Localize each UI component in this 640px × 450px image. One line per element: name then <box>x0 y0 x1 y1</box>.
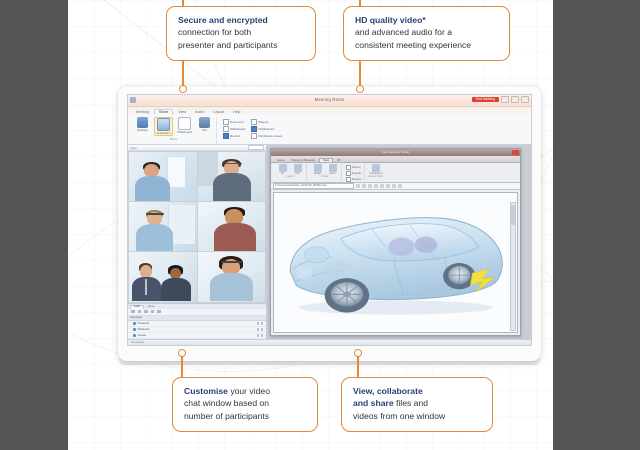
shared-tab-home[interactable]: Home <box>274 159 287 162</box>
shared-app-titlebar: Car Assembly Model <box>271 149 520 156</box>
zoom-label: Zoom <box>329 173 335 176</box>
video-tile[interactable] <box>129 152 197 201</box>
callout-heading: View, collaborate <box>353 385 483 397</box>
share-desktop-button[interactable]: Desktop <box>134 117 151 132</box>
torso <box>214 223 256 251</box>
callout-line-2: connection for both <box>178 26 306 38</box>
video-tile[interactable] <box>198 152 266 201</box>
cad-canvas[interactable] <box>273 192 518 333</box>
application-icon <box>157 118 170 131</box>
connector-dot-customise <box>178 349 186 357</box>
callout-line-2: and share files and <box>353 397 483 409</box>
shared-tab-view[interactable]: View <box>319 158 333 162</box>
ribbon-tab-view[interactable]: View <box>174 110 190 115</box>
connector-dot-hd <box>356 85 364 93</box>
zoom-button[interactable]: Zoom <box>326 164 339 175</box>
ribbon-tab-meeting[interactable]: Meeting <box>132 110 153 115</box>
option-players[interactable]: Players <box>251 119 282 125</box>
participant-name: Guests <box>138 334 147 337</box>
video-tile-grid <box>128 151 266 303</box>
shared-group-rotate: Rotate Zoom Rotate <box>309 164 342 181</box>
invite-icon[interactable] <box>144 310 148 314</box>
zoom-icon <box>329 164 337 172</box>
shared-group-name: Layout <box>286 175 293 178</box>
checkbox-icon <box>251 133 257 139</box>
end-meeting-button[interactable]: End Meeting <box>472 97 499 102</box>
checkbox-icon <box>251 119 257 125</box>
minimise-button[interactable] <box>501 96 509 103</box>
option-record[interactable]: Record <box>223 133 245 139</box>
ribbon-tab-share[interactable]: Share <box>154 109 174 115</box>
row-icons <box>257 322 264 325</box>
option-document[interactable]: Document <box>223 119 245 125</box>
ribbon-options: Document Whiteboard Record <box>223 117 282 139</box>
option-notifications-label: Notifications <box>258 127 274 131</box>
pan-button[interactable]: Pan <box>291 164 304 175</box>
shared-content-panel: Car Assembly Model Home Display & Measur… <box>267 145 531 339</box>
fit-icon <box>279 164 287 172</box>
maximise-button[interactable] <box>511 96 519 103</box>
callout-heading: HD quality video* <box>355 14 500 26</box>
checkbox-icon <box>223 126 229 132</box>
video-tile[interactable] <box>198 202 266 251</box>
callout-secure-encrypted: Secure and encrypted connection for both… <box>166 6 316 61</box>
shared-group-render-mode: Transparent Render Mode <box>367 164 386 181</box>
option-section-label: Section <box>352 166 360 169</box>
option-record-label: Record <box>230 134 240 138</box>
video-tile[interactable] <box>129 252 197 301</box>
titlebar-controls: End Meeting <box>472 96 529 103</box>
connector-line-secure <box>182 61 184 87</box>
ribbon-group-buttons: Desktop Application Whiteboard <box>134 117 213 136</box>
shared-app-title: Car Assembly Model <box>382 150 410 154</box>
torso <box>135 176 170 201</box>
headset-icon <box>146 213 164 215</box>
option-explode-label: Explode <box>352 172 361 175</box>
option-whiteboard[interactable]: Whiteboard <box>223 126 245 132</box>
option-section[interactable]: Section <box>346 165 362 170</box>
ribbon-options-col-1: Document Whiteboard Record <box>223 119 245 139</box>
app-logo-icon <box>130 97 136 103</box>
checkbox-checked-icon <box>251 126 257 132</box>
shared-app-path-bar: C:\Users\model\vehicle_shell\CAR_MODEL.d… <box>271 183 520 190</box>
left-margin-band <box>0 0 68 450</box>
hand-raise-icon[interactable] <box>151 310 155 314</box>
share-file-button[interactable]: File <box>196 117 213 132</box>
share-application-label: Application <box>156 132 170 135</box>
canvas-scrollbar[interactable] <box>510 202 516 331</box>
option-measure-label: Measure <box>352 178 362 181</box>
presence-icon <box>133 334 136 337</box>
cam-icon <box>261 334 264 337</box>
option-players-label: Players <box>258 120 268 124</box>
participant-figure <box>133 162 172 201</box>
rotate-button[interactable]: Rotate <box>311 164 324 175</box>
app-titlebar: Meeting Room End Meeting <box>128 95 531 107</box>
rotate-icon <box>314 164 322 172</box>
callout-line-2: and advanced audio for a <box>355 26 500 38</box>
camera-icon[interactable] <box>138 310 142 314</box>
checkbox-icon <box>346 165 351 170</box>
mic-icon <box>257 328 260 331</box>
rotate-right-icon[interactable] <box>386 184 390 188</box>
callout-customise-video-chat: Customise your video chat window based o… <box>172 377 318 432</box>
shared-group-layout: Fit Pan Layout <box>274 164 307 181</box>
head <box>225 209 242 224</box>
device-bezel: Meeting Room End Meeting Meeting Share V… <box>118 86 541 361</box>
share-application-button[interactable]: Application <box>154 117 173 136</box>
participant-figure <box>214 207 257 251</box>
ribbon-tab-help[interactable]: Help <box>229 110 244 115</box>
file-icon <box>199 117 210 128</box>
participant-name: Moderator <box>138 328 150 331</box>
torso <box>213 173 251 201</box>
file-path-field[interactable]: C:\Users\model\vehicle_shell\CAR_MODEL.d… <box>273 183 354 189</box>
shared-tab-3d[interactable]: 3D <box>334 159 344 162</box>
ribbon-tab-layout[interactable]: Layout <box>209 110 228 115</box>
device-screen: Meeting Room End Meeting Meeting Share V… <box>127 94 532 346</box>
fit-label: Fit <box>281 173 284 176</box>
ribbon-tab-audio[interactable]: Audio <box>191 110 208 115</box>
torso <box>136 224 174 251</box>
app-ribbon: Meeting Share View Audio Layout Help <box>128 107 531 145</box>
back-icon[interactable] <box>356 184 360 188</box>
tab-chat[interactable]: Chat <box>130 305 144 309</box>
participant-panel: Chat Notes Attendees <box>128 303 266 340</box>
row-icons <box>257 328 264 331</box>
checkbox-icon <box>346 171 351 176</box>
checkbox-checked-icon <box>223 133 229 139</box>
mic-icon <box>257 334 260 337</box>
option-explode[interactable]: Explode <box>346 171 362 176</box>
shared-app-tab-strip: Home Display & Measure View 3D <box>271 156 520 163</box>
callout-line-3: number of participants <box>184 410 308 422</box>
ribbon-options-col-2: Players Notifications Participant screen <box>251 119 282 139</box>
ribbon-group-options: Document Whiteboard Record <box>220 117 285 144</box>
callout-line-3: presenter and participants <box>178 39 306 51</box>
presence-icon <box>133 328 136 331</box>
ribbon-group-name: Share <box>170 137 177 141</box>
callout-line-2: chat window based on <box>184 397 308 409</box>
shared-tab-display-measure[interactable]: Display & Measure <box>288 159 317 162</box>
participant-toolbar <box>128 309 266 316</box>
necktie-icon <box>145 279 148 294</box>
presence-icon <box>133 322 136 325</box>
shared-app-close-button[interactable] <box>512 150 519 155</box>
transparent-button[interactable]: Transparent <box>369 164 382 175</box>
whiteboard-icon <box>178 117 191 130</box>
participant-name: Presenter <box>138 322 150 325</box>
headset-icon <box>221 261 241 263</box>
ribbon-tab-strip: Meeting Share View Audio Layout Help <box>128 107 531 115</box>
zoom-in-icon[interactable] <box>368 184 372 188</box>
ribbon-body: Desktop Application Whiteboard <box>128 115 531 144</box>
option-whiteboard-label: Whiteboard <box>230 127 245 131</box>
connector-dot-secure <box>179 85 187 93</box>
mute-icon[interactable] <box>131 310 135 314</box>
cam-icon <box>261 322 264 325</box>
right-margin-band <box>553 0 640 450</box>
callout-heading: Secure and encrypted <box>178 14 306 26</box>
option-participant-screen-label: Participant screen <box>258 134 282 138</box>
app-window-title: Meeting Room <box>315 97 345 102</box>
participant-figure <box>212 159 253 201</box>
option-notifications[interactable]: Notifications <box>251 126 282 132</box>
shared-group-buttons: Rotate Zoom <box>311 164 339 175</box>
page-canvas: Meeting Room End Meeting Meeting Share V… <box>0 0 640 450</box>
participant-figure <box>161 265 191 301</box>
pan-icon <box>294 164 302 172</box>
transparent-icon <box>372 164 380 172</box>
print-icon[interactable] <box>398 184 402 188</box>
share-whiteboard-button[interactable]: Whiteboard <box>176 117 193 134</box>
app-statusbar: Connected <box>128 339 531 345</box>
scrollbar-thumb[interactable] <box>511 205 515 225</box>
share-file-label: File <box>202 129 207 132</box>
share-whiteboard-label: Whiteboard <box>177 131 192 134</box>
connector-line-hd <box>359 61 361 87</box>
connector-dot-view-share <box>354 349 362 357</box>
connector-line-view-share <box>357 356 359 379</box>
video-panel: Video <box>128 145 267 339</box>
video-tile[interactable] <box>129 202 197 251</box>
shared-group-buttons: Transparent <box>369 164 382 175</box>
participant-figure <box>210 256 255 301</box>
option-participant-screen[interactable]: Participant screen <box>251 133 282 139</box>
meeting-app-window: Meeting Room End Meeting Meeting Share V… <box>128 95 531 345</box>
participant-figure <box>136 210 175 251</box>
callout-view-collaborate-share: View, collaborate and share files and vi… <box>341 377 493 432</box>
callout-line-2-rest: files and <box>394 398 428 408</box>
torso <box>210 273 254 301</box>
share-desktop-label: Desktop <box>137 129 148 132</box>
shared-group-name: Rotate <box>321 175 328 178</box>
forward-icon[interactable] <box>362 184 366 188</box>
shared-group-name: Render Mode <box>369 175 384 178</box>
rotate-label: Rotate <box>314 173 321 176</box>
connector-line-customise <box>181 356 183 379</box>
close-button[interactable] <box>521 96 529 103</box>
front-wheel <box>325 278 370 312</box>
ribbon-group-share: Desktop Application Whiteboard <box>131 117 217 144</box>
video-panel-title: Video <box>130 146 137 150</box>
rotate-left-icon[interactable] <box>380 184 384 188</box>
tab-notes[interactable]: Notes <box>145 306 158 309</box>
callout-heading: Customise your video <box>184 385 308 397</box>
callout-line-3: consistent meeting experience <box>355 39 500 51</box>
shared-application-window: Car Assembly Model Home Display & Measur… <box>270 148 521 336</box>
row-icons <box>257 334 264 337</box>
cam-icon <box>261 328 264 331</box>
app-content: Video <box>128 145 531 339</box>
shared-group-buttons: Fit Pan <box>276 164 304 175</box>
shared-group-options: Section Explode Measure <box>346 164 362 182</box>
checkbox-icon <box>223 119 229 125</box>
video-tile[interactable] <box>198 252 266 301</box>
option-document-label: Document <box>230 120 244 124</box>
callout-heading-rest: your video <box>228 386 270 396</box>
car-model-graphic <box>274 195 517 323</box>
callout-hd-quality-video: HD quality video* and advanced audio for… <box>343 6 510 61</box>
pan-label: Pan <box>295 173 299 176</box>
callout-line-3: videos from one window <box>353 410 483 422</box>
shared-group-3d-tools: Section Explode Measure <box>344 164 365 181</box>
mic-icon <box>257 322 260 325</box>
shared-app-ribbon: Fit Pan Layout <box>271 163 520 183</box>
monitor-icon <box>137 117 148 128</box>
settings-icon[interactable] <box>157 310 161 314</box>
search-input[interactable] <box>248 145 264 150</box>
zoom-out-icon[interactable] <box>374 184 378 188</box>
participant-figure <box>132 263 162 301</box>
torso <box>161 278 191 301</box>
fit-button[interactable]: Fit <box>276 164 289 175</box>
fullscreen-icon[interactable] <box>392 184 396 188</box>
